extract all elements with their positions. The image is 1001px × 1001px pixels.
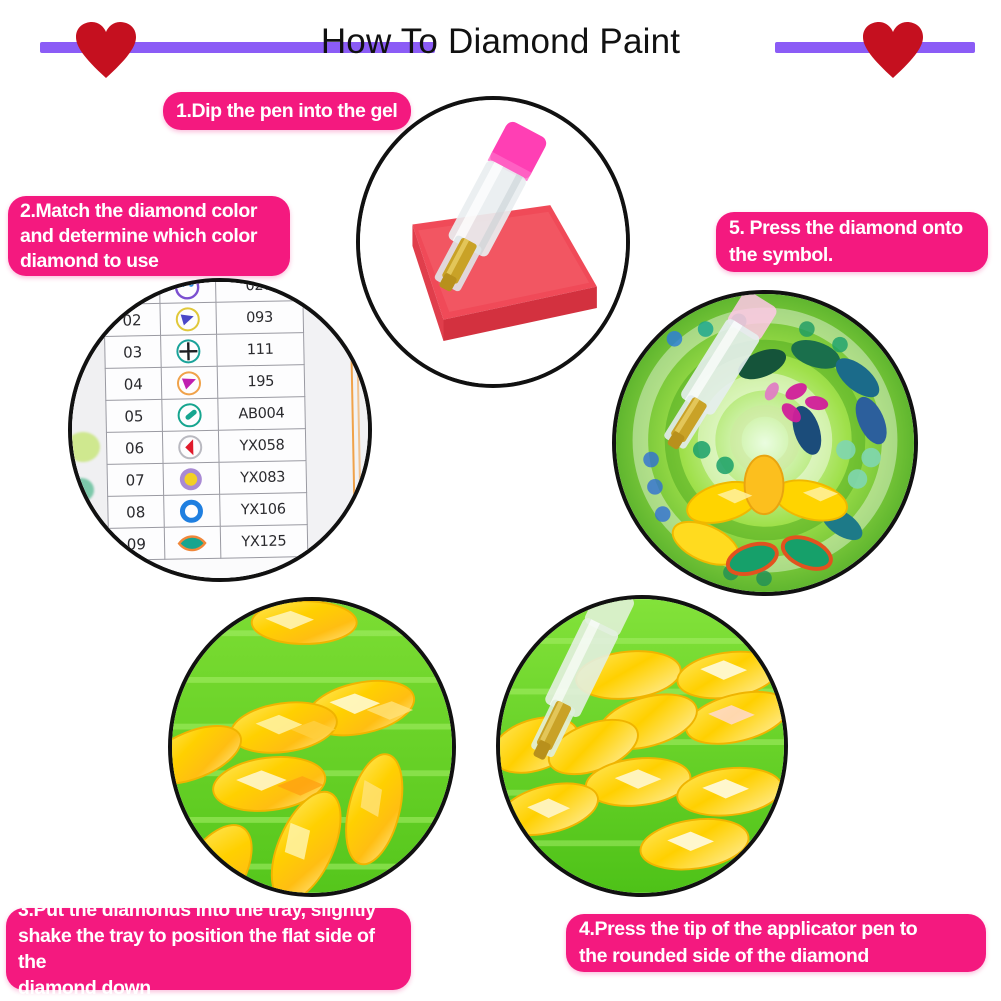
triangle-in-circle-icon [160,303,216,335]
chart-cell-code: YX083 [219,461,307,495]
chart-table-body: 01 028 02 [103,278,307,560]
step-5-label: 5. Press the diamond onto the symbol. [716,212,988,272]
table-row: 08 YX106 [108,493,308,529]
chart-cell-no: 02 [104,303,160,336]
pen-pressing-diamond-illustration [500,599,784,893]
table-row: 07 YX083 [107,461,307,497]
step-1-label: 1.Dip the pen into the gel [163,92,411,130]
chart-cell-symbol [159,278,216,303]
leaf-icon [164,527,220,559]
step-1-label-text: 1.Dip the pen into the gel [176,92,398,130]
chart-cell-no: 04 [105,367,161,400]
table-row: 09 YX125 [108,525,308,561]
diamonds-in-tray-illustration [172,601,452,893]
color-symbol-chart: 01 028 02 [72,282,372,582]
step-3-label: 3.Put the diamonds into the tray, slight… [6,908,411,990]
step-2-photo-chart: 01 028 02 [68,278,372,582]
page-title: How To Diamond Paint [0,19,1001,65]
chart-cell-no: 01 [103,278,159,304]
chart-cell-no: 09 [108,527,164,560]
step-3-photo [168,597,456,897]
chart-cell-symbol [161,398,218,431]
ring-icon [164,495,220,527]
fabric-blob [68,478,94,502]
chart-paper: 01 028 02 [103,278,309,582]
chart-cell-symbol [160,334,217,367]
chart-cell-no: 05 [106,399,162,432]
chart-cell-symbol [163,494,220,527]
table-row: 06 YX058 [106,429,306,465]
chart-cell-symbol [163,462,220,495]
chart-cell-symbol [164,526,221,559]
chart-cell-code: YX106 [219,493,307,527]
chart-cell-symbol [160,302,217,335]
chart-cell-symbol [161,366,218,399]
infographic-canvas: How To Diamond Paint 1.Dip the pen into … [0,0,1001,1001]
chart-cell-no: 07 [107,463,163,496]
triangle-in-circle-icon [161,367,217,399]
chart-cell-code: YX058 [218,429,306,463]
circle-two-dots-icon [159,278,215,303]
chart-cell-code: YX125 [220,525,308,559]
diamond-onto-symbol-illustration [616,294,914,592]
table-row: 04 195 [105,365,305,401]
header: How To Diamond Paint [0,0,1001,90]
chart-cell-code: 111 [216,333,304,367]
step-5-label-text: 5. Press the diamond onto the symbol. [729,215,975,269]
table-row: 02 093 [104,301,304,337]
chart-cell-code: AB004 [217,397,305,431]
step-3-label-text: 3.Put the diamonds into the tray, slight… [18,897,399,1001]
step-2-label-text: 2.Match the diamond color and determine … [20,199,278,274]
chart-cell-no: 06 [106,431,162,464]
chart-table: 01 028 02 [103,278,309,561]
step-4-photo [496,595,788,897]
step-1-photo [356,96,630,388]
table-row: 05 AB004 [106,397,306,433]
chart-cell-code: 195 [217,365,305,399]
step-4-label: 4.Press the tip of the applicator pen to… [566,914,986,972]
chart-cell-code: 028 [215,278,303,302]
plus-in-circle-icon [161,335,217,367]
chart-cell-code: 093 [216,301,304,335]
table-row: 03 111 [105,333,305,369]
dot-in-circle-icon [163,463,219,495]
chart-cell-no: 08 [108,495,164,528]
step-2-label: 2.Match the diamond color and determine … [8,196,290,276]
pen-dipping-into-gel-illustration [360,100,626,384]
slash-in-circle-icon [162,399,218,431]
step-4-label-text: 4.Press the tip of the applicator pen to… [579,916,973,970]
chart-cell-no: 03 [105,335,161,368]
chevron-left-icon [163,431,219,463]
chart-cell-symbol [162,430,219,463]
step-5-photo [612,290,918,596]
